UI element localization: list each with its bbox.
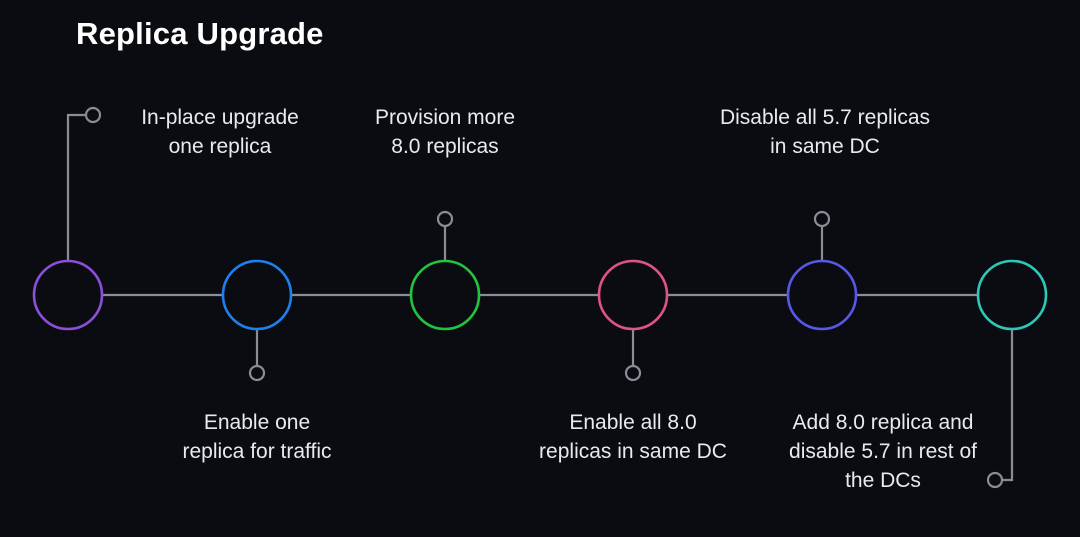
milestone-label-1: In-place upgrade one replica	[110, 103, 330, 161]
milestone-label-6: Add 8.0 replica and disable 5.7 in rest …	[758, 408, 1008, 495]
milestone-label-4: Enable all 8.0 replicas in same DC	[513, 408, 753, 466]
stub-marker-2	[250, 366, 264, 380]
milestone-label-3: Provision more 8.0 replicas	[335, 103, 555, 161]
stub-marker-5	[815, 212, 829, 226]
stub-marker-1	[86, 108, 100, 122]
milestone-label-2: Enable one replica for traffic	[147, 408, 367, 466]
milestone-node-5[interactable]	[788, 261, 856, 329]
milestone-node-6[interactable]	[978, 261, 1046, 329]
milestone-node-1[interactable]	[34, 261, 102, 329]
slide-canvas: Replica Upgrade In-place upgrade one rep…	[0, 0, 1080, 537]
milestone-node-2[interactable]	[223, 261, 291, 329]
stub-marker-4	[626, 366, 640, 380]
milestone-label-5: Disable all 5.7 replicas in same DC	[695, 103, 955, 161]
milestone-node-4[interactable]	[599, 261, 667, 329]
node-connector-1	[68, 115, 86, 261]
stub-marker-3	[438, 212, 452, 226]
milestone-node-3[interactable]	[411, 261, 479, 329]
